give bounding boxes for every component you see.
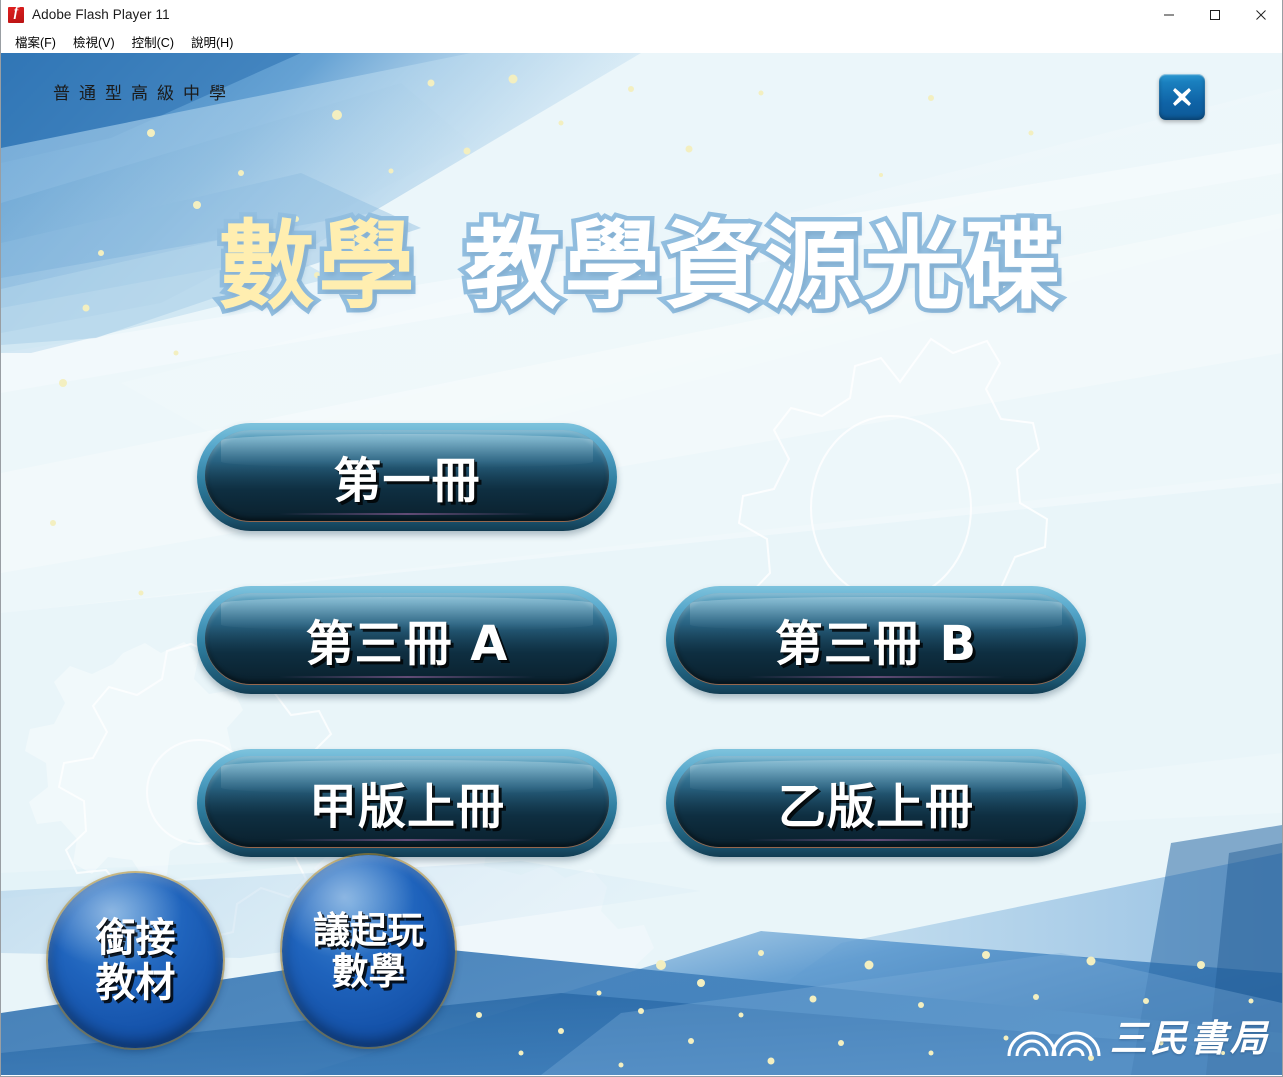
volume-button-yi-shang-label: 乙版上冊: [778, 767, 974, 837]
volume-button-1-label: 第一冊: [333, 441, 480, 511]
volume-button-3a[interactable]: 第三冊 A: [197, 586, 617, 694]
flash-player-window: Adobe Flash Player 11 檔案(F) 檢視(V: [0, 0, 1283, 1077]
volume-button-3a-body: 第三冊 A: [205, 593, 609, 684]
arc-logo-icon: [1006, 1012, 1102, 1058]
flash-stage: 普通型高級中學 數學教學資源光碟 第一冊 第三冊 A 第三冊 B: [1, 53, 1282, 1075]
maximize-button[interactable]: [1192, 0, 1238, 30]
menu-control[interactable]: 控制(C): [126, 30, 185, 54]
page-title-highlight: 數學: [219, 210, 419, 322]
volume-button-3a-label: 第三冊 A: [306, 604, 509, 674]
volume-button-jia-shang[interactable]: 甲版上冊: [197, 749, 617, 857]
close-overlay-icon: [1169, 84, 1195, 110]
menu-view[interactable]: 檢視(V): [67, 30, 126, 54]
circle-button-play-math-label: 議起玩 數學: [313, 910, 424, 993]
volume-button-3b-body: 第三冊 B: [674, 593, 1078, 684]
circle-button-bridging-material[interactable]: 銜接 教材: [48, 873, 223, 1048]
title-bar: Adobe Flash Player 11: [1, 0, 1283, 30]
menu-help[interactable]: 說明(H): [185, 30, 244, 54]
volume-button-3b[interactable]: 第三冊 B: [666, 586, 1086, 694]
close-icon: [1255, 9, 1267, 21]
volume-button-yi-shang[interactable]: 乙版上冊: [666, 749, 1086, 857]
close-button[interactable]: [1238, 0, 1283, 30]
volume-button-jia-shang-label: 甲版上冊: [309, 767, 505, 837]
minimize-icon: [1163, 9, 1175, 21]
window-controls: [1146, 0, 1283, 30]
flash-app-icon: [8, 7, 24, 23]
volume-button-1-body: 第一冊: [205, 430, 609, 521]
volume-button-1[interactable]: 第一冊: [197, 423, 617, 531]
publisher-name: 三民書局: [1110, 1008, 1270, 1062]
minimize-button[interactable]: [1146, 0, 1192, 30]
page-title: 數學教學資源光碟: [1, 213, 1282, 321]
menu-bar: 檔案(F) 檢視(V) 控制(C) 說明(H): [1, 30, 1283, 53]
publisher-logo: 三民書局: [1006, 1008, 1270, 1062]
page-title-rest: 教學資源光碟: [465, 210, 1065, 322]
circle-button-play-math[interactable]: 議起玩 數學: [282, 855, 455, 1047]
close-overlay-button[interactable]: [1159, 74, 1205, 120]
window-title: Adobe Flash Player 11: [32, 7, 170, 22]
circle-button-bridging-material-label: 銜接 教材: [96, 916, 176, 1006]
menu-file[interactable]: 檔案(F): [9, 30, 67, 54]
volume-button-3b-label: 第三冊 B: [775, 604, 977, 674]
volume-button-jia-shang-body: 甲版上冊: [205, 756, 609, 847]
volume-button-yi-shang-body: 乙版上冊: [674, 756, 1078, 847]
maximize-icon: [1209, 9, 1221, 21]
subject-label: 普通型高級中學: [53, 79, 235, 104]
